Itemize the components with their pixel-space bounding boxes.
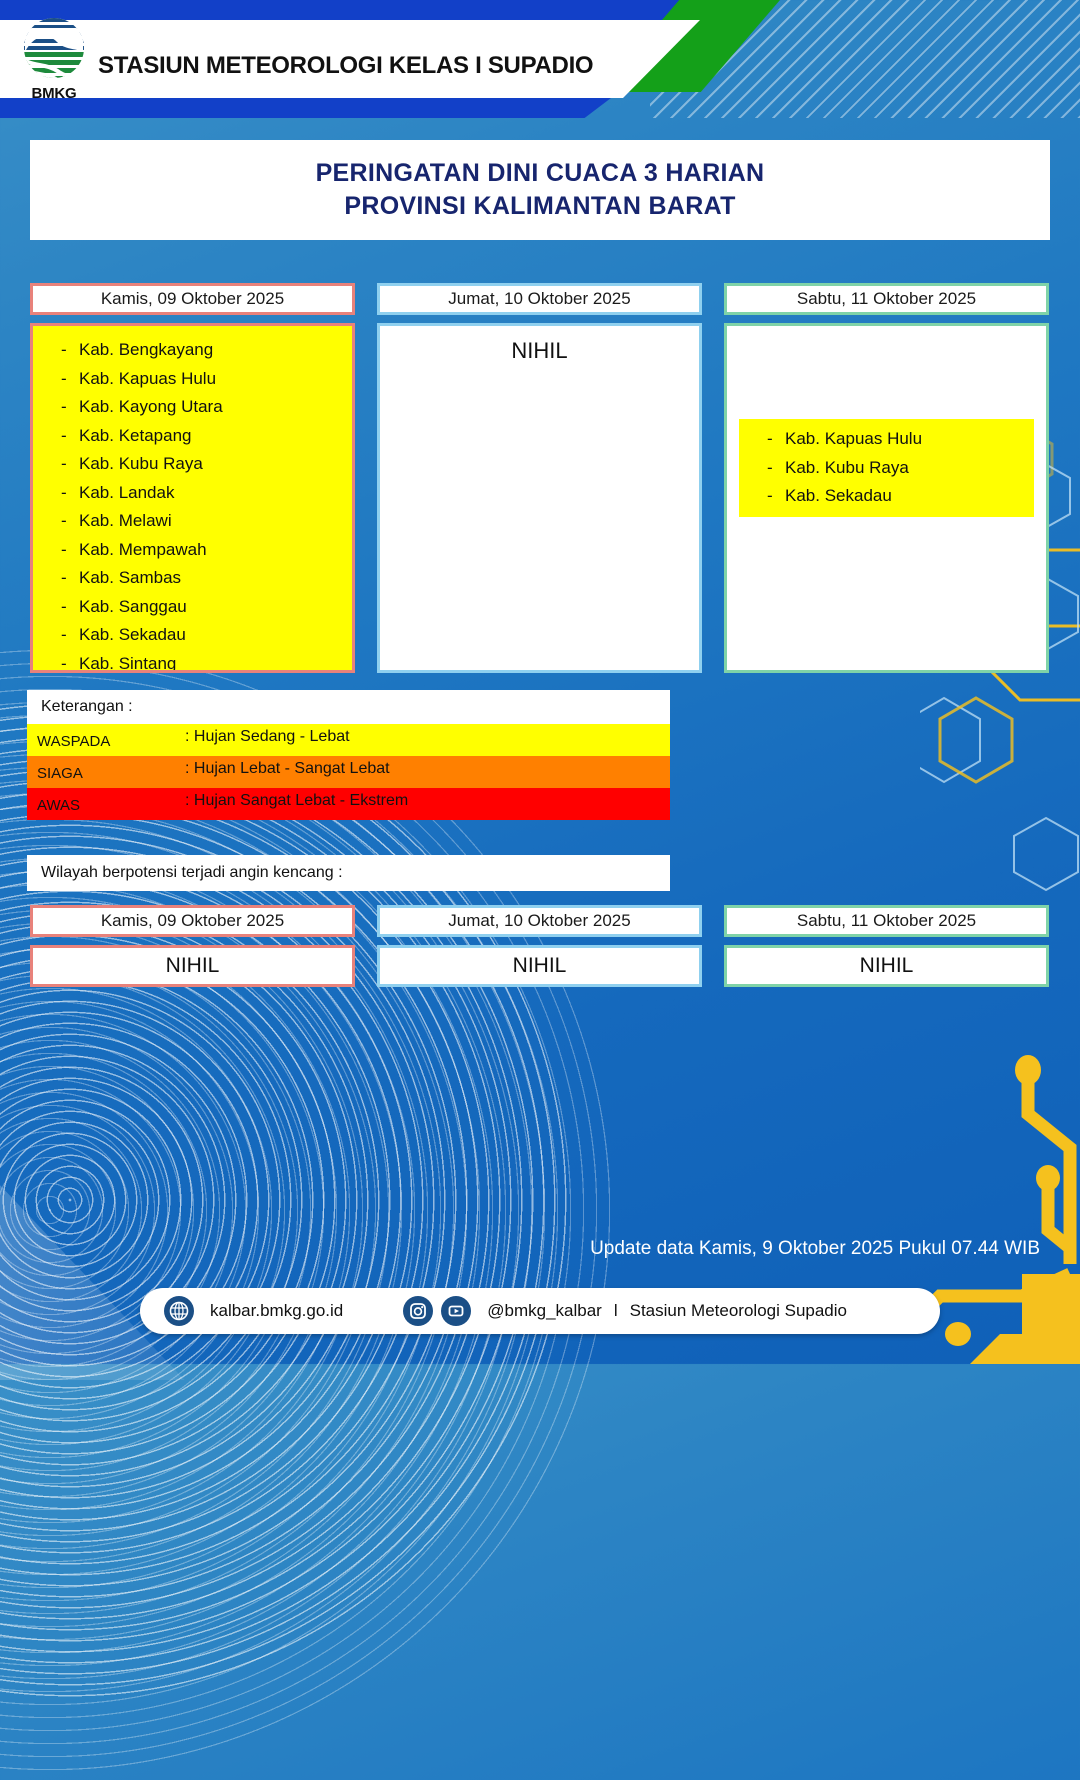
footer-station-name: Stasiun Meteorologi Supadio: [630, 1301, 847, 1321]
legend-label-awas: AWAS: [37, 797, 80, 814]
wind-value-1: NIHIL: [30, 945, 355, 987]
wind-section-title: Wilayah berpotensi terjadi angin kencang…: [27, 855, 670, 891]
list-item: -Kab. Sanggau: [33, 593, 352, 622]
rain-column-2: Jumat, 10 Oktober 2025 NIHIL: [377, 283, 702, 673]
list-item: -Kab. Kapuas Hulu: [739, 425, 1034, 454]
rain-column-1: Kamis, 09 Oktober 2025 -Kab. Bengkayang …: [30, 283, 355, 673]
globe-icon[interactable]: [164, 1296, 194, 1326]
circuit-trace-decoration: [930, 1034, 1080, 1364]
legend-box: Keterangan : WASPADA : Hujan Sedang - Le…: [27, 690, 670, 820]
list-item: -Kab. Melawi: [33, 507, 352, 536]
list-item: -Kab. Mempawah: [33, 536, 352, 565]
list-item: -Kab. Kubu Raya: [33, 450, 352, 479]
legend-desc-waspada: : Hujan Sedang - Lebat: [185, 728, 350, 746]
social-handle[interactable]: @bmkg_kalbar: [487, 1301, 602, 1321]
list-item: -Kab. Sintang: [33, 650, 352, 674]
rain-nihil-2: NIHIL: [380, 326, 699, 364]
page-header: BMKG STASIUN METEOROLOGI KELAS I SUPADIO: [0, 0, 1080, 118]
legend-title: Keterangan :: [27, 690, 670, 724]
youtube-icon[interactable]: [441, 1296, 471, 1326]
list-item: -Kab. Sekadau: [33, 621, 352, 650]
legend-row-siaga: SIAGA : Hujan Lebat - Sangat Lebat: [27, 756, 670, 788]
rain-list-box-3: -Kab. Kapuas Hulu -Kab. Kubu Raya -Kab. …: [724, 323, 1049, 673]
page-title-line2: PROVINSI KALIMANTAN BARAT: [344, 190, 735, 223]
wind-value-2: NIHIL: [377, 945, 702, 987]
rain-date-header-1: Kamis, 09 Oktober 2025: [30, 283, 355, 315]
legend-desc-siaga: : Hujan Lebat - Sangat Lebat: [185, 760, 390, 778]
regency-list-3: -Kab. Kapuas Hulu -Kab. Kubu Raya -Kab. …: [739, 419, 1034, 517]
wind-column-3: Sabtu, 11 Oktober 2025 NIHIL: [724, 905, 1049, 987]
list-item: -Kab. Landak: [33, 479, 352, 508]
list-item: -Kab. Sekadau: [739, 482, 1034, 511]
page-title-line1: PERINGATAN DINI CUACA 3 HARIAN: [316, 157, 765, 190]
wind-column-1: Kamis, 09 Oktober 2025 NIHIL: [30, 905, 355, 987]
list-item: -Kab. Bengkayang: [33, 336, 352, 365]
website-link[interactable]: kalbar.bmkg.go.id: [210, 1301, 343, 1321]
rain-list-box-1: -Kab. Bengkayang -Kab. Kapuas Hulu -Kab.…: [30, 323, 355, 673]
arc-pattern-decoration: [0, 700, 570, 1700]
list-item: -Kab. Kayong Utara: [33, 393, 352, 422]
rain-date-header-3: Sabtu, 11 Oktober 2025: [724, 283, 1049, 315]
wind-column-2: Jumat, 10 Oktober 2025 NIHIL: [377, 905, 702, 987]
wedge-decoration: [0, 1140, 310, 1380]
wind-date-header-2: Jumat, 10 Oktober 2025: [377, 905, 702, 937]
legend-row-waspada: WASPADA : Hujan Sedang - Lebat: [27, 724, 670, 756]
poster-root: BMKG STASIUN METEOROLOGI KELAS I SUPADIO…: [0, 0, 1080, 1364]
legend-desc-awas: : Hujan Sangat Lebat - Ekstrem: [185, 792, 408, 810]
page-title: PERINGATAN DINI CUACA 3 HARIAN PROVINSI …: [30, 140, 1050, 240]
bmkg-logo-icon: BMKG: [17, 16, 91, 102]
rain-column-3: Sabtu, 11 Oktober 2025 -Kab. Kapuas Hulu…: [724, 283, 1049, 673]
bmkg-logo-text: BMKG: [17, 85, 91, 102]
legend-label-siaga: SIAGA: [37, 765, 83, 782]
wind-date-header-1: Kamis, 09 Oktober 2025: [30, 905, 355, 937]
list-item: -Kab. Kubu Raya: [739, 454, 1034, 483]
wind-date-header-3: Sabtu, 11 Oktober 2025: [724, 905, 1049, 937]
list-item: -Kab. Kapuas Hulu: [33, 365, 352, 394]
regency-list-1: -Kab. Bengkayang -Kab. Kapuas Hulu -Kab.…: [33, 326, 352, 670]
rain-list-box-2: NIHIL: [377, 323, 702, 673]
station-title: STASIUN METEOROLOGI KELAS I SUPADIO: [98, 52, 593, 80]
rain-date-header-2: Jumat, 10 Oktober 2025: [377, 283, 702, 315]
legend-row-awas: AWAS : Hujan Sangat Lebat - Ekstrem: [27, 788, 670, 820]
footer-bar: kalbar.bmkg.go.id @bmkg_kalbar l Stasiun…: [140, 1288, 940, 1334]
legend-label-waspada: WASPADA: [37, 733, 110, 750]
wind-value-3: NIHIL: [724, 945, 1049, 987]
list-item: -Kab. Ketapang: [33, 422, 352, 451]
update-timestamp: Update data Kamis, 9 Oktober 2025 Pukul …: [0, 1238, 1040, 1260]
instagram-icon[interactable]: [403, 1296, 433, 1326]
list-item: -Kab. Sambas: [33, 564, 352, 593]
footer-separator: l: [614, 1301, 618, 1321]
